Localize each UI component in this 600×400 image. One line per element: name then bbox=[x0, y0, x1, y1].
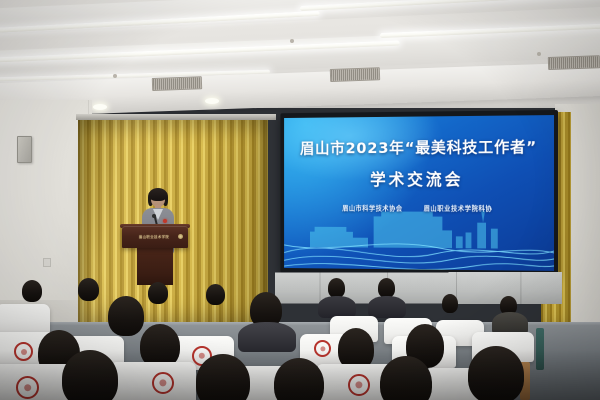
chair-back bbox=[0, 304, 50, 334]
screen-organizers: 眉山市科学技术协会 眉山职业技术学院科协 bbox=[284, 203, 554, 213]
ceiling-fixture-dot bbox=[113, 74, 117, 78]
chair-logo-icon bbox=[14, 342, 33, 361]
city-skyline-icon bbox=[284, 208, 554, 271]
led-screen: 眉山市2023年“最美科技工作者” 学术交流会 眉山市科学技术协会 眉山职业技术… bbox=[284, 115, 554, 271]
chair-logo-icon bbox=[348, 374, 370, 396]
audience-head bbox=[442, 294, 458, 313]
wall-socket-icon bbox=[43, 258, 51, 267]
audience-head bbox=[148, 282, 168, 304]
seat-frame bbox=[536, 328, 544, 370]
audience-head bbox=[22, 280, 42, 302]
presenter-badge bbox=[163, 219, 167, 223]
conference-hall-screenshot: 眉山市2023年“最美科技工作者” 学术交流会 眉山市科学技术协会 眉山职业技术… bbox=[0, 0, 600, 400]
screen-title-sub: 学术交流会 bbox=[284, 166, 554, 190]
audience-shoulders bbox=[238, 322, 296, 352]
audience-head-front bbox=[196, 354, 250, 400]
screen-title-main: 眉山市2023年“最美科技工作者” bbox=[284, 135, 554, 158]
audience-head-front bbox=[468, 346, 524, 400]
led-screen-frame: 眉山市2023年“最美科技工作者” 学术交流会 眉山市科学技术协会 眉山职业技术… bbox=[280, 110, 558, 276]
audience-head bbox=[78, 278, 99, 301]
audience-head bbox=[206, 284, 225, 305]
chair-logo-icon bbox=[16, 376, 39, 399]
audience-shoulders bbox=[368, 296, 406, 318]
organizer-2: 眉山职业技术学院科协 bbox=[424, 203, 493, 213]
audience-head bbox=[108, 296, 144, 336]
recessed-downlight bbox=[205, 98, 219, 104]
podium-emblem-icon bbox=[178, 234, 183, 239]
audience-shoulders bbox=[318, 296, 356, 318]
ceiling-fixture-dot bbox=[537, 52, 541, 56]
presenter-hair-top bbox=[149, 188, 167, 201]
podium-nameplate: 眉山职业技术学院 bbox=[130, 232, 178, 241]
audience-head bbox=[378, 278, 395, 298]
ceiling-fixture-dot bbox=[290, 39, 294, 43]
microphone-icon bbox=[152, 214, 156, 218]
curtain-rod bbox=[76, 114, 276, 120]
chair-logo-icon bbox=[152, 372, 174, 394]
air-vent-icon bbox=[330, 67, 380, 82]
air-vent-icon bbox=[548, 55, 600, 70]
audience-head-front bbox=[62, 350, 118, 400]
air-vent-icon bbox=[152, 76, 202, 91]
chair-logo-icon bbox=[314, 340, 331, 357]
seated-audience bbox=[0, 276, 600, 400]
organizer-1: 眉山市科学技术协会 bbox=[342, 203, 402, 213]
audience-head bbox=[328, 278, 345, 298]
recessed-downlight bbox=[93, 104, 107, 110]
wall-speaker-icon bbox=[17, 136, 32, 163]
